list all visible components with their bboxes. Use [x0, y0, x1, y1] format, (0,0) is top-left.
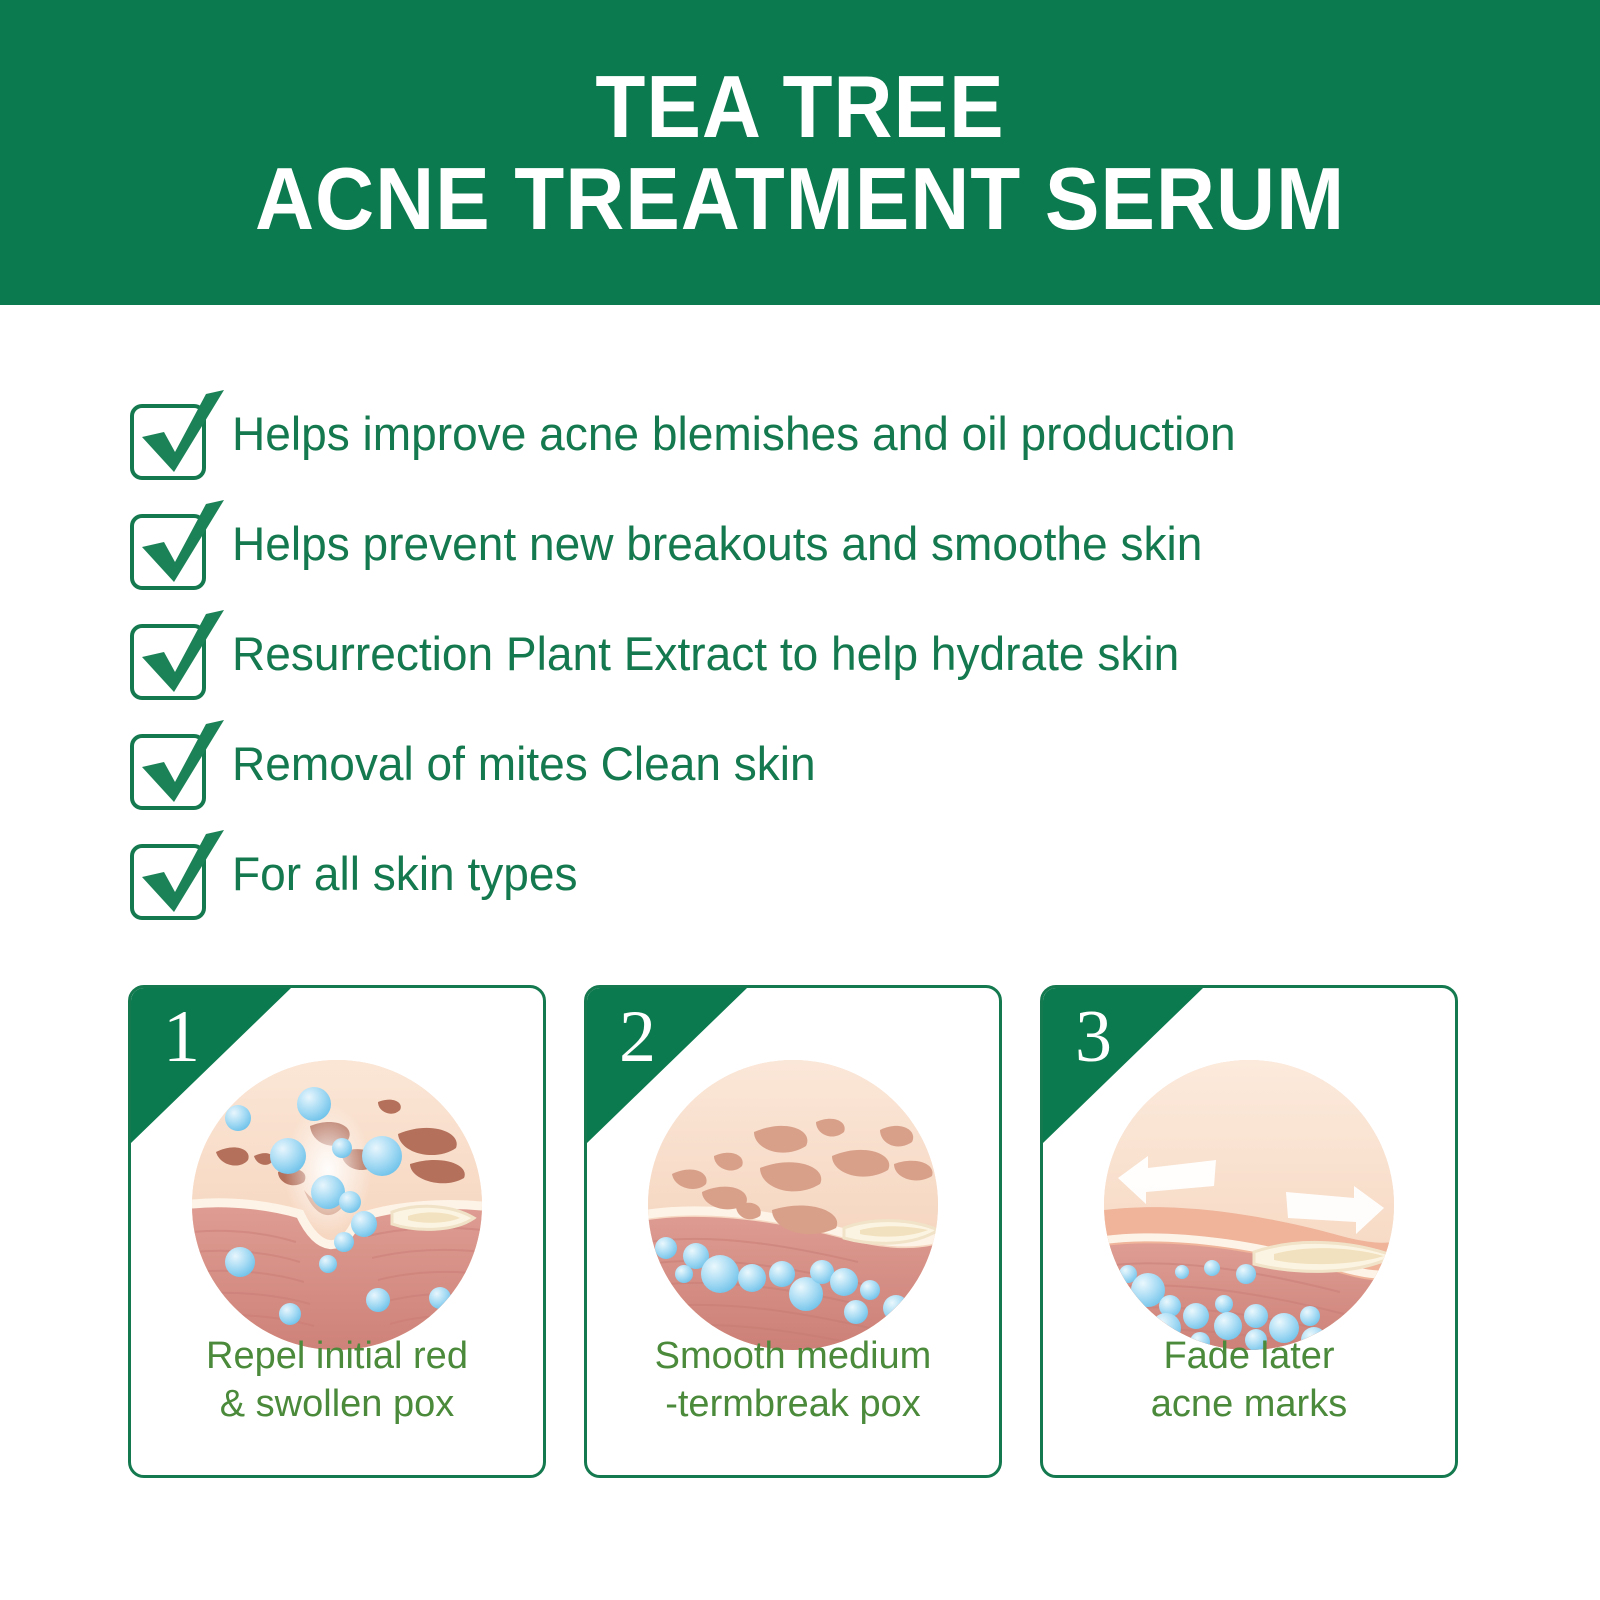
benefit-label: Removal of mites Clean skin	[232, 740, 816, 787]
checkbox-check-icon	[128, 500, 224, 596]
step-number: 3	[1075, 1000, 1112, 1074]
product-title-line-2: ACNE TREATMENT SERUM	[255, 153, 1345, 245]
step-card-3: 3	[1040, 985, 1458, 1478]
skin-cross-section-bumps-icon	[648, 1060, 938, 1350]
header-banner: TEA TREE ACNE TREATMENT SERUM	[0, 0, 1600, 305]
benefit-item: Resurrection Plant Extract to help hydra…	[128, 608, 1528, 718]
step-card-1: 1	[128, 985, 546, 1478]
checkbox-check-icon	[128, 830, 224, 926]
step-number: 2	[619, 1000, 656, 1074]
checkbox-check-icon	[128, 390, 224, 486]
step-caption: Fade later acne marks	[1043, 1332, 1455, 1429]
product-title-line-1: TEA TREE	[595, 61, 1004, 153]
step-caption: Smooth medium -termbreak pox	[587, 1332, 999, 1429]
benefit-label: Helps prevent new breakouts and smoothe …	[232, 520, 1202, 567]
benefit-item: Helps prevent new breakouts and smoothe …	[128, 498, 1528, 608]
benefit-label: Resurrection Plant Extract to help hydra…	[232, 630, 1179, 677]
step-number: 1	[163, 1000, 200, 1074]
benefit-label: For all skin types	[232, 850, 578, 897]
checkbox-check-icon	[128, 720, 224, 816]
steps-row: 1	[128, 985, 1458, 1478]
skin-cross-section-smooth-arrows-icon	[1104, 1060, 1394, 1350]
benefit-item: Removal of mites Clean skin	[128, 718, 1528, 828]
checkbox-check-icon	[128, 610, 224, 706]
step-card-2: 2	[584, 985, 1002, 1478]
skin-cross-section-inflamed-pore-icon	[192, 1060, 482, 1350]
benefit-item: For all skin types	[128, 828, 1528, 938]
step-caption: Repel initial red & swollen pox	[131, 1332, 543, 1429]
benefits-list: Helps improve acne blemishes and oil pro…	[128, 388, 1528, 938]
benefit-label: Helps improve acne blemishes and oil pro…	[232, 410, 1236, 457]
benefit-item: Helps improve acne blemishes and oil pro…	[128, 388, 1528, 498]
